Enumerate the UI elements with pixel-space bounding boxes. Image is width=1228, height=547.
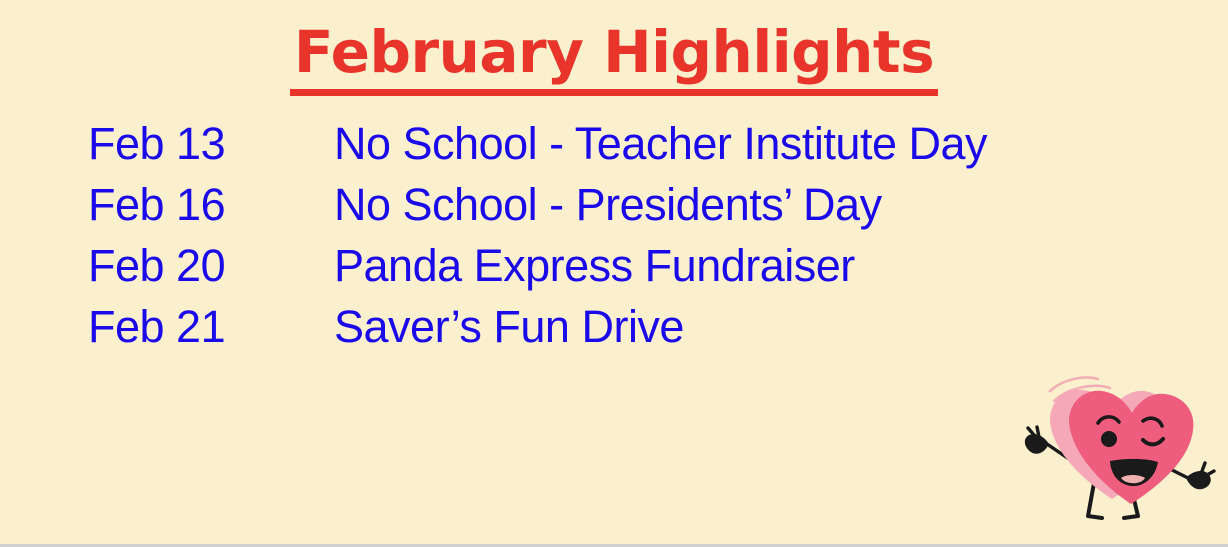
slide-canvas: February Highlights Feb 13 No School - T… — [0, 0, 1228, 547]
highlight-event: No School - Presidents’ Day — [334, 179, 1138, 231]
list-item: Feb 13 No School - Teacher Institute Day — [88, 118, 1138, 179]
highlight-event: Panda Express Fundraiser — [334, 240, 1138, 292]
highlight-event: No School - Teacher Institute Day — [334, 118, 1138, 170]
highlight-date: Feb 13 — [88, 118, 334, 170]
highlight-date: Feb 20 — [88, 240, 334, 292]
page-title: February Highlights — [290, 22, 938, 96]
highlight-date: Feb 16 — [88, 179, 334, 231]
heart-character-icon — [1006, 366, 1228, 547]
title-block: February Highlights — [0, 22, 1228, 96]
list-item: Feb 21 Saver’s Fun Drive — [88, 301, 1138, 362]
highlight-date: Feb 21 — [88, 301, 334, 353]
left-eye-icon — [1101, 431, 1117, 447]
list-item: Feb 16 No School - Presidents’ Day — [88, 179, 1138, 240]
list-item: Feb 20 Panda Express Fundraiser — [88, 240, 1138, 301]
highlight-event: Saver’s Fun Drive — [334, 301, 1138, 353]
highlights-list: Feb 13 No School - Teacher Institute Day… — [88, 118, 1138, 362]
